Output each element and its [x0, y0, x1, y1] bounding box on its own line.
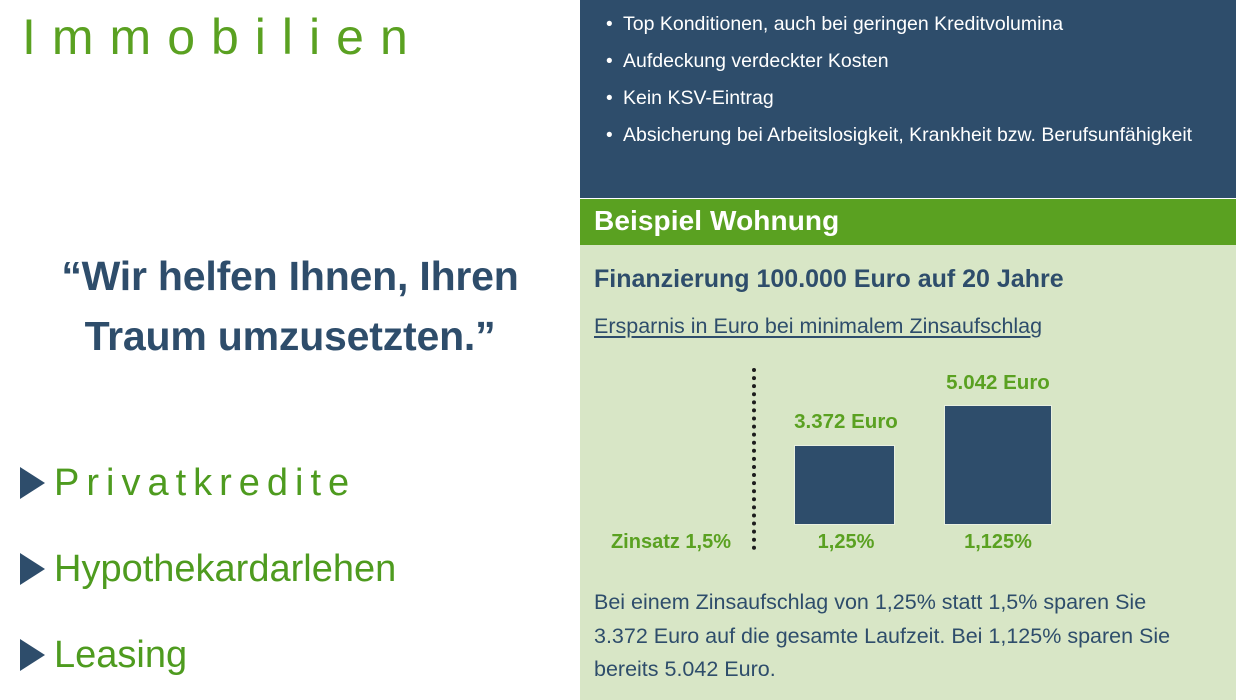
section-header-bar: Beispiel Wohnung	[580, 199, 1236, 245]
benefits-list: • Top Konditionen, auch bei geringen Kre…	[606, 6, 1216, 154]
offer-label: Hypothekardarlehen	[54, 550, 396, 588]
section-title: Beispiel Wohnung	[594, 205, 839, 237]
bullet-icon: •	[606, 6, 623, 43]
savings-subtitle: Ersparnis in Euro bei minimalem Zinsaufs…	[594, 314, 1042, 339]
page-title: Immobilien	[22, 8, 424, 66]
bullet-icon: •	[606, 117, 623, 154]
axis-tick-label: 1,125%	[918, 531, 1078, 554]
list-item[interactable]: Leasing	[10, 612, 570, 698]
benefit-text: Absicherung bei Arbeitslosigkeit, Krankh…	[623, 117, 1216, 154]
axis-tick-label: 1,25%	[776, 531, 916, 554]
chart-bar	[794, 445, 895, 525]
baseline-divider	[752, 368, 756, 550]
quote-text: “Wir helfen Ihnen, Ihren Traum umzusetzt…	[36, 246, 544, 367]
triangle-right-icon	[10, 550, 54, 588]
right-panel: • Top Konditionen, auch bei geringen Kre…	[580, 0, 1236, 700]
benefits-panel: • Top Konditionen, auch bei geringen Kre…	[580, 0, 1236, 198]
offer-list: Privatkredite Hypothekardarlehen Leasing	[10, 440, 570, 698]
benefit-text: Top Konditionen, auch bei geringen Kredi…	[623, 6, 1216, 43]
summary-text: Bei einem Zinsaufschlag von 1,25% statt …	[594, 586, 1204, 687]
example-panel: Finanzierung 100.000 Euro auf 20 Jahre E…	[580, 245, 1236, 700]
list-item[interactable]: Hypothekardarlehen	[10, 526, 570, 612]
bullet-icon: •	[606, 43, 623, 80]
bar-value-label: 3.372 Euro	[776, 410, 916, 434]
offer-label: Leasing	[54, 636, 187, 674]
list-item[interactable]: Privatkredite	[10, 440, 570, 526]
benefit-text: Kein KSV-Eintrag	[623, 80, 1216, 117]
list-item: • Absicherung bei Arbeitslosigkeit, Kran…	[606, 117, 1216, 154]
offer-label: Privatkredite	[54, 464, 356, 502]
triangle-right-icon	[10, 636, 54, 674]
chart-bar	[944, 405, 1052, 525]
slide-root: Immobilien “Wir helfen Ihnen, Ihren Trau…	[0, 0, 1236, 700]
bullet-icon: •	[606, 80, 623, 117]
bar-value-label: 5.042 Euro	[918, 371, 1078, 395]
list-item: • Kein KSV-Eintrag	[606, 80, 1216, 117]
list-item: • Top Konditionen, auch bei geringen Kre…	[606, 6, 1216, 43]
left-panel: Immobilien “Wir helfen Ihnen, Ihren Trau…	[0, 0, 580, 700]
benefit-text: Aufdeckung verdeckter Kosten	[623, 43, 1216, 80]
triangle-right-icon	[10, 464, 54, 502]
savings-bar-chart: 3.372 Euro 5.042 Euro Zinsatz 1,5% 1,25%…	[580, 363, 1236, 563]
axis-tick-label: Zinsatz 1,5%	[588, 531, 754, 554]
list-item: • Aufdeckung verdeckter Kosten	[606, 43, 1216, 80]
financing-heading: Finanzierung 100.000 Euro auf 20 Jahre	[594, 265, 1064, 294]
